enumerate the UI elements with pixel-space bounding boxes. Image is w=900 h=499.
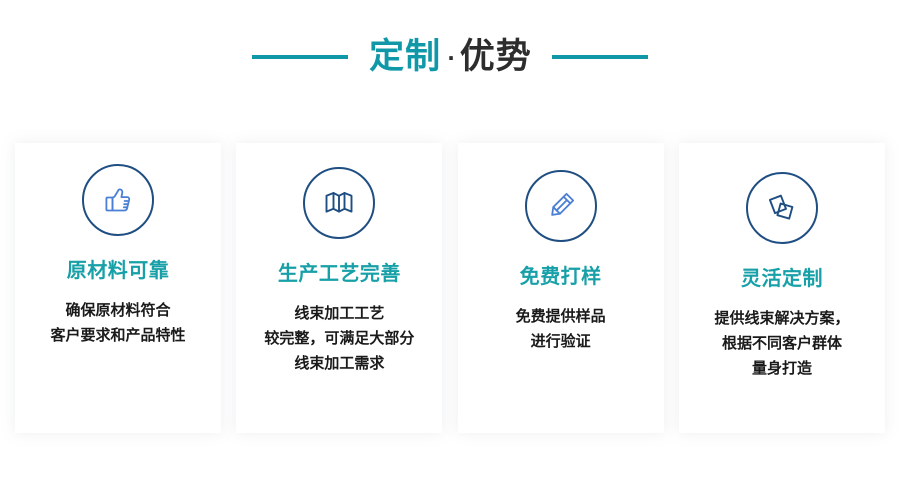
advantage-cards-row: 原材料可靠 确保原材料符合 客户要求和产品特性 生产工艺完善 [15, 143, 885, 433]
card-description-line: 确保原材料符合 [50, 298, 185, 323]
heading-rule-right [552, 55, 648, 59]
card-description-line: 线束加工需求 [264, 351, 414, 376]
folded-map-icon [319, 183, 359, 223]
card-description: 线束加工工艺 较完整，可满足大部分 线束加工需求 [256, 301, 422, 376]
page-title: 定制 · 优势 [369, 40, 532, 75]
thumbs-up-icon [98, 180, 138, 220]
card-description: 提供线束解决方案， 根据不同客户群体 量身打造 [706, 306, 857, 381]
card-description-line: 客户要求和产品特性 [50, 323, 185, 348]
advantages-section: 定制 · 优势 原材料可靠 确保原 [0, 0, 900, 499]
card-description: 确保原材料符合 客户要求和产品特性 [42, 298, 193, 348]
icon-ring [303, 167, 375, 239]
advantage-card[interactable]: 生产工艺完善 线束加工工艺 较完整，可满足大部分 线束加工需求 [236, 143, 442, 433]
section-heading: 定制 · 优势 [0, 28, 900, 86]
icon-ring [82, 164, 154, 236]
card-description-line: 进行验证 [516, 329, 606, 354]
card-title: 原材料可靠 [67, 259, 170, 281]
pencil-icon [541, 186, 581, 226]
icon-ring [525, 170, 597, 242]
card-description-line: 提供线束解决方案， [714, 306, 849, 331]
heading-separator-dot: · [441, 48, 460, 68]
advantage-card[interactable]: 免费打样 免费提供样品 进行验证 [458, 143, 664, 433]
card-description-line: 较完整，可满足大部分 [264, 326, 414, 351]
card-description-line: 量身打造 [714, 356, 849, 381]
card-title: 免费打样 [520, 265, 602, 287]
heading-accent-text: 定制 [369, 40, 441, 75]
card-description-line: 根据不同客户群体 [714, 331, 849, 356]
card-title: 灵活定制 [741, 267, 823, 289]
card-title: 生产工艺完善 [278, 262, 401, 284]
heading-main-text: 优势 [460, 40, 532, 75]
icon-ring [746, 172, 818, 244]
heading-rule-left [252, 55, 348, 59]
card-description: 免费提供样品 进行验证 [508, 304, 614, 354]
advantage-card[interactable]: 原材料可靠 确保原材料符合 客户要求和产品特性 [15, 143, 221, 433]
card-description-line: 线束加工工艺 [264, 301, 414, 326]
card-description-line: 免费提供样品 [516, 304, 606, 329]
advantage-card[interactable]: 灵活定制 提供线束解决方案， 根据不同客户群体 量身打造 [679, 143, 885, 433]
stacked-cards-icon [762, 188, 802, 228]
